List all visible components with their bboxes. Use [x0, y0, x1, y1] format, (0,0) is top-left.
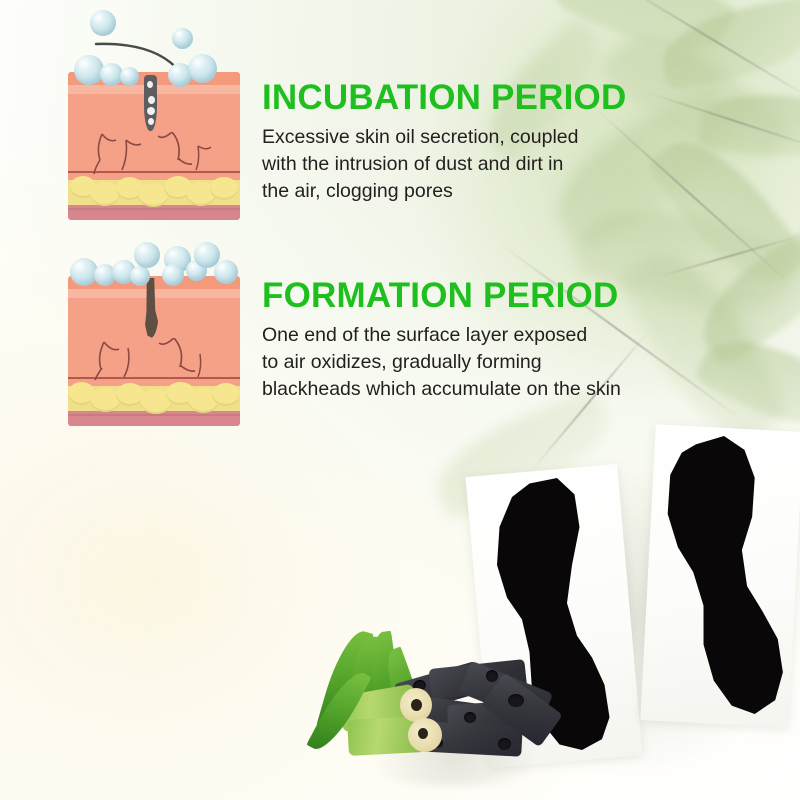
skin-cross-section: [68, 276, 240, 426]
body-line: with the intrusion of dust and dirt in: [262, 151, 579, 178]
body-line: to air oxidizes, gradually forming: [262, 349, 621, 376]
illustration-formation: [68, 236, 240, 428]
bubble-icon: [188, 54, 217, 83]
heading-formation: FORMATION PERIOD: [262, 276, 618, 316]
bubble-icon: [134, 242, 160, 268]
background-cream-wash: [0, 400, 360, 760]
body-incubation: Excessive skin oil secretion, coupled wi…: [262, 124, 579, 205]
illustration-incubation: [68, 8, 240, 220]
body-formation: One end of the surface layer exposed to …: [262, 322, 621, 403]
infographic-page: INCUBATION PERIOD Excessive skin oil sec…: [0, 0, 800, 800]
body-line: One end of the surface layer exposed: [262, 322, 621, 349]
bubble-icon: [162, 264, 184, 286]
bubble-icon: [120, 67, 139, 86]
capillary-icon: [68, 338, 240, 383]
bubble-icon: [90, 10, 116, 36]
heading-incubation: INCUBATION PERIOD: [262, 78, 626, 118]
skin-cross-section: [68, 72, 240, 220]
bubble-icon: [130, 266, 150, 286]
body-line: the air, clogging pores: [262, 178, 579, 205]
body-line: blackheads which accumulate on the skin: [262, 376, 621, 403]
bubble-icon: [214, 260, 238, 284]
bubble-icon: [74, 55, 104, 85]
capillary-icon: [68, 132, 240, 177]
body-line: Excessive skin oil secretion, coupled: [262, 124, 579, 151]
